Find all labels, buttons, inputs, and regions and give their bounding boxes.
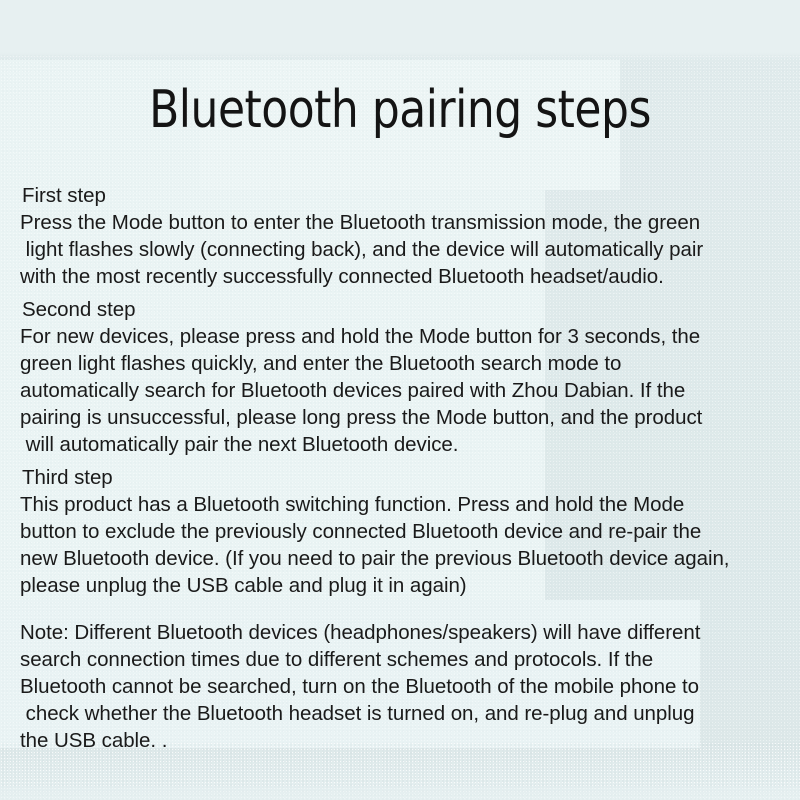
block-line: Bluetooth cannot be searched, turn on th… (20, 673, 792, 700)
block-heading: Third step (20, 464, 792, 491)
block-first-step: First stepPress the Mode button to enter… (20, 182, 792, 290)
block-line: green light flashes quickly, and enter t… (20, 350, 792, 377)
block-line: button to exclude the previously connect… (20, 518, 792, 545)
instruction-blocks: First stepPress the Mode button to enter… (20, 182, 792, 760)
block-line: with the most recently successfully conn… (20, 263, 792, 290)
instruction-poster: Bluetooth pairing steps First stepPress … (0, 0, 800, 800)
block-line: pairing is unsuccessful, please long pre… (20, 404, 792, 431)
block-line: automatically search for Bluetooth devic… (20, 377, 792, 404)
page-title: Bluetooth pairing steps (24, 84, 776, 136)
block-line: light flashes slowly (connecting back), … (20, 236, 792, 263)
block-line: search connection times due to different… (20, 646, 792, 673)
block-line: will automatically pair the next Bluetoo… (20, 431, 792, 458)
block-heading: First step (20, 182, 792, 209)
block-second-step: Second stepFor new devices, please press… (20, 296, 792, 458)
block-heading: Second step (20, 296, 792, 323)
poster-content: Bluetooth pairing steps First stepPress … (0, 0, 800, 800)
block-third-step: Third stepThis product has a Bluetooth s… (20, 464, 792, 599)
block-line: the USB cable. . (20, 727, 792, 754)
block-line: This product has a Bluetooth switching f… (20, 491, 792, 518)
block-line: check whether the Bluetooth headset is t… (20, 700, 792, 727)
block-line: new Bluetooth device. (If you need to pa… (20, 545, 792, 572)
block-line: Press the Mode button to enter the Bluet… (20, 209, 792, 236)
block-note: Note: Different Bluetooth devices (headp… (20, 619, 792, 754)
block-line: For new devices, please press and hold t… (20, 323, 792, 350)
block-line: please unplug the USB cable and plug it … (20, 572, 792, 599)
block-line: Note: Different Bluetooth devices (headp… (20, 619, 792, 646)
